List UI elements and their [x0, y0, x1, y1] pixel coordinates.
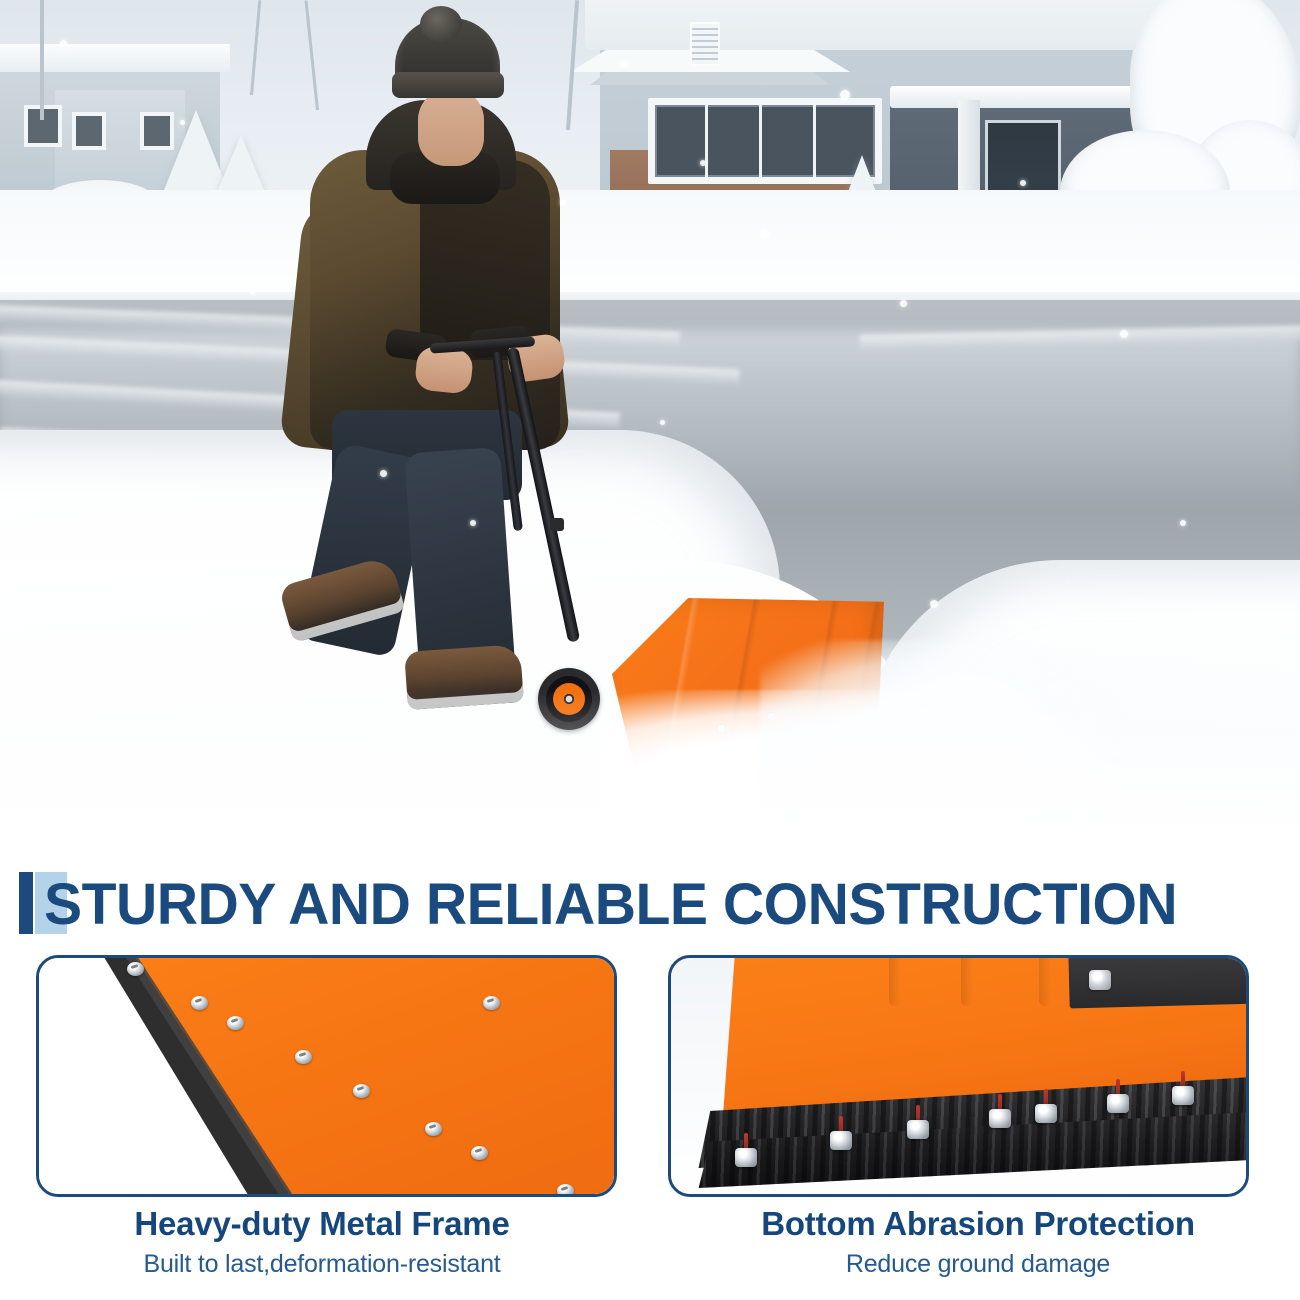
page-title: STURDY AND RELIABLE CONSTRUCTION	[44, 866, 1281, 944]
feature-panels	[0, 955, 1300, 1195]
caption-heavy-duty-metal-frame: Heavy-duty Metal Frame Built to last,def…	[12, 1205, 632, 1279]
snowflake	[840, 90, 850, 100]
caption-subtitle: Built to last,deformation-resistant	[12, 1249, 632, 1279]
background-window	[72, 112, 106, 150]
abrasion-strip-bolt	[830, 1131, 852, 1150]
snowflake	[620, 60, 628, 68]
headline-accent-bar	[19, 872, 33, 934]
frame-rivet	[425, 1122, 442, 1136]
snowflake	[660, 420, 665, 425]
frame-rivet	[127, 962, 144, 976]
abrasion-strip-bolt	[735, 1148, 757, 1167]
headline-row: STURDY AND RELIABLE CONSTRUCTION	[0, 866, 1300, 946]
snowflake	[930, 600, 938, 608]
hero-photo	[0, 0, 1300, 880]
abrasion-strip-bolt	[1107, 1094, 1129, 1113]
house-roof-snow	[585, 0, 1185, 50]
frame-rivet	[191, 996, 208, 1010]
feature-panel-heavy-duty-metal-frame	[36, 955, 617, 1197]
blade-rib	[889, 955, 901, 1006]
abrasion-strip-bolt	[907, 1120, 929, 1139]
snowflake	[900, 300, 907, 307]
snowflake	[1020, 180, 1026, 186]
snow-covered-conifer	[215, 135, 267, 197]
frame-rivet	[483, 996, 500, 1010]
snowflake	[700, 160, 706, 166]
caption-title: Bottom Abrasion Protection	[668, 1205, 1288, 1243]
plow-shaft-bolt	[550, 518, 564, 531]
face	[418, 88, 484, 166]
abrasion-strip-bolt	[1172, 1086, 1194, 1105]
caption-bottom-abrasion-protection: Bottom Abrasion Protection Reduce ground…	[668, 1205, 1288, 1279]
blade-rib	[1039, 955, 1051, 1006]
snowflake	[1180, 520, 1186, 526]
snowflake	[470, 520, 476, 526]
frame-rivet	[353, 1084, 370, 1098]
beanie-band	[392, 72, 504, 98]
photo-bottom-white-fade	[0, 740, 1300, 880]
blade-rib	[961, 955, 973, 1006]
snowflake	[560, 200, 566, 206]
feature-panel-bottom-abrasion-protection	[668, 955, 1249, 1197]
bare-tree	[40, 0, 44, 120]
product-feature-page: STURDY AND RELIABLE CONSTRUCTION	[0, 0, 1300, 1300]
snowflake	[60, 40, 67, 47]
abrasion-strip-bolt	[989, 1109, 1011, 1128]
frame-rivet	[471, 1146, 488, 1160]
snowflake	[1120, 330, 1128, 338]
snowflake	[250, 290, 255, 295]
background-house-left-roof	[0, 44, 230, 72]
mounting-plate-bolt	[1089, 970, 1111, 990]
frame-rivet	[227, 1016, 244, 1030]
frame-rivet	[557, 1184, 574, 1197]
snowflake	[380, 470, 387, 477]
beanie-pompom	[420, 6, 462, 42]
gable-vent	[690, 22, 720, 66]
caption-subtitle: Reduce ground damage	[668, 1249, 1288, 1279]
frame-rivet	[295, 1050, 312, 1064]
feature-captions: Heavy-duty Metal Frame Built to last,def…	[0, 1205, 1300, 1295]
snowflake	[760, 230, 769, 239]
person-pushing-plow	[270, 10, 600, 700]
caption-title: Heavy-duty Metal Frame	[12, 1205, 632, 1243]
snowflake	[180, 120, 185, 125]
abrasion-strip-bolt	[1035, 1104, 1057, 1123]
